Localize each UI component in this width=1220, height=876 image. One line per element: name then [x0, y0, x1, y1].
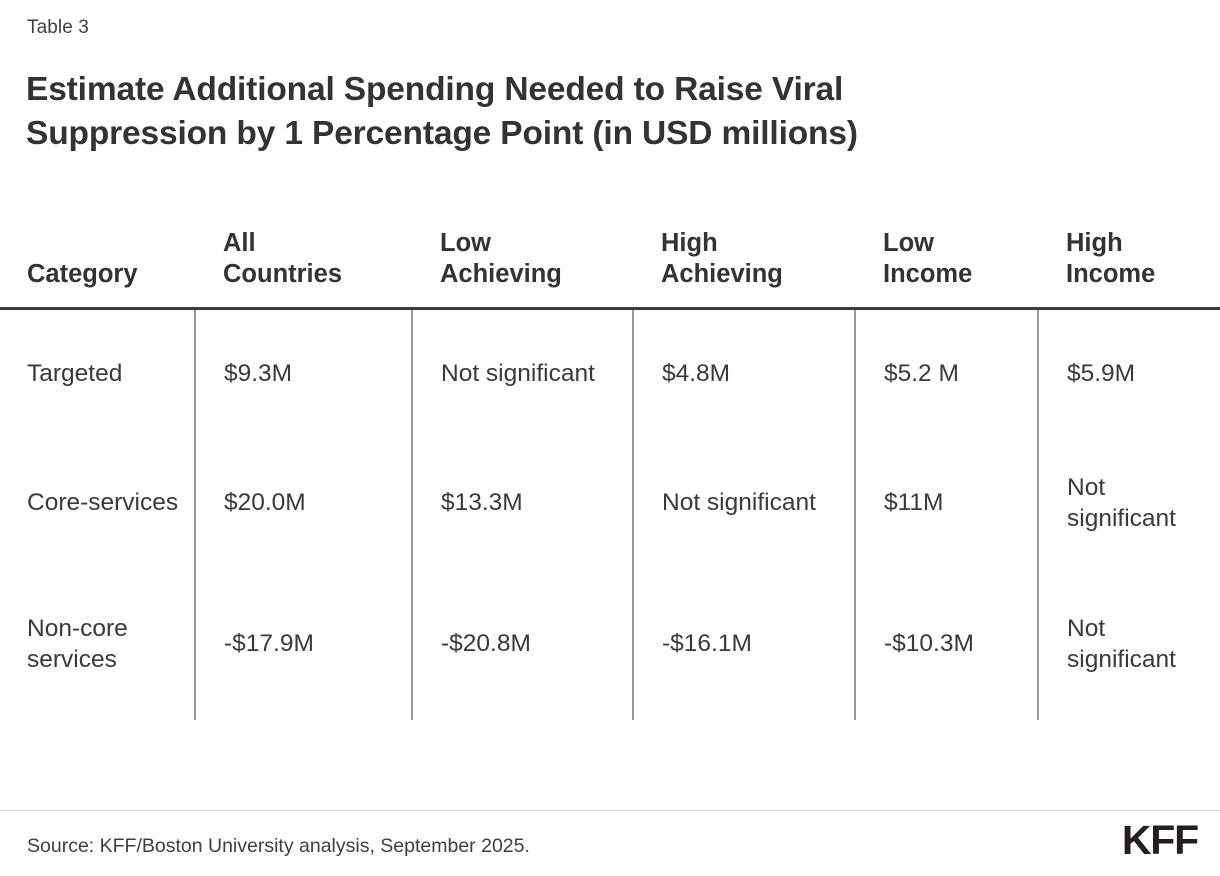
cell-text: Not significant	[1039, 613, 1220, 676]
data-table: Category All Countries Low Achieving Hig…	[0, 206, 1220, 720]
cell-targeted-high-achieving: $4.8M	[633, 308, 855, 438]
cell-text: Non-core services	[0, 613, 194, 676]
table-header-row: Category All Countries Low Achieving Hig…	[0, 206, 1220, 308]
cell-text: $5.2 M	[856, 358, 1037, 389]
cell-text: $5.9M	[1039, 358, 1220, 389]
table-body: Targeted $9.3M Not significant $4.8M $5.…	[0, 308, 1220, 720]
cell-non-core-services-low-income: -$10.3M	[855, 568, 1038, 720]
cell-core-services-high-achieving: Not significant	[633, 438, 855, 568]
column-header-high-achieving-line2: Achieving	[633, 259, 855, 290]
cell-text: -$20.8M	[413, 628, 632, 659]
column-header-low-achieving: Low Achieving	[412, 206, 633, 308]
column-header-all-countries-line2: Countries	[195, 259, 412, 290]
cell-core-services-low-achieving: $13.3M	[412, 438, 633, 568]
table-figure: Table 3 Estimate Additional Spending Nee…	[0, 0, 1220, 876]
cell-non-core-services-high-income: Not significant	[1038, 568, 1220, 720]
kff-logo: KFF	[1122, 820, 1198, 861]
column-header-low-achieving-line2: Achieving	[412, 259, 633, 290]
cell-text: $13.3M	[413, 487, 632, 518]
column-header-low-income: Low Income	[855, 206, 1038, 308]
cell-text: Not significant	[634, 487, 854, 518]
figure-number-label: Table 3	[27, 17, 89, 39]
cell-core-services-high-income: Not significant	[1038, 438, 1220, 568]
column-header-high-achieving: High Achieving	[633, 206, 855, 308]
footer-divider	[0, 810, 1220, 811]
column-header-category: Category	[0, 206, 195, 308]
cell-text: $20.0M	[196, 487, 411, 518]
data-table-container: Category All Countries Low Achieving Hig…	[0, 206, 1220, 752]
column-header-all-countries: All Countries	[195, 206, 412, 308]
column-header-high-income: High Income	[1038, 206, 1220, 308]
table-row: Core-services $20.0M $13.3M Not signific…	[0, 438, 1220, 568]
column-header-high-income-line1: High	[1038, 228, 1220, 259]
cell-core-services-all-countries: $20.0M	[195, 438, 412, 568]
table-row: Targeted $9.3M Not significant $4.8M $5.…	[0, 308, 1220, 438]
row-label-non-core-services: Non-core services	[0, 568, 195, 720]
cell-text: $11M	[856, 487, 1037, 518]
cell-targeted-high-income: $5.9M	[1038, 308, 1220, 438]
figure-title: Estimate Additional Spending Needed to R…	[26, 68, 1036, 156]
cell-non-core-services-low-achieving: -$20.8M	[412, 568, 633, 720]
cell-text: $4.8M	[634, 358, 854, 389]
cell-targeted-all-countries: $9.3M	[195, 308, 412, 438]
cell-text: Not significant	[413, 358, 632, 389]
column-header-low-income-line1: Low	[855, 228, 1038, 259]
source-note: Source: KFF/Boston University analysis, …	[27, 835, 530, 858]
cell-non-core-services-all-countries: -$17.9M	[195, 568, 412, 720]
column-header-high-income-line2: Income	[1038, 259, 1220, 290]
cell-text: Core-services	[0, 487, 194, 518]
column-header-low-income-line2: Income	[855, 259, 1038, 290]
cell-text: Not significant	[1039, 472, 1220, 535]
table-row: Non-core services -$17.9M -$20.8M -$16.1…	[0, 568, 1220, 720]
cell-targeted-low-achieving: Not significant	[412, 308, 633, 438]
cell-core-services-low-income: $11M	[855, 438, 1038, 568]
column-header-high-achieving-line1: High	[633, 228, 855, 259]
column-header-low-achieving-line1: Low	[412, 228, 633, 259]
cell-text: Targeted	[0, 358, 194, 389]
cell-non-core-services-high-achieving: -$16.1M	[633, 568, 855, 720]
cell-text: -$16.1M	[634, 628, 854, 659]
cell-text: -$17.9M	[196, 628, 411, 659]
row-label-targeted: Targeted	[0, 308, 195, 438]
column-header-all-countries-line1: All	[195, 228, 412, 259]
cell-targeted-low-income: $5.2 M	[855, 308, 1038, 438]
table-header: Category All Countries Low Achieving Hig…	[0, 206, 1220, 308]
cell-text: -$10.3M	[856, 628, 1037, 659]
column-header-category-line2: Category	[0, 259, 195, 290]
cell-text: $9.3M	[196, 358, 411, 389]
row-label-core-services: Core-services	[0, 438, 195, 568]
